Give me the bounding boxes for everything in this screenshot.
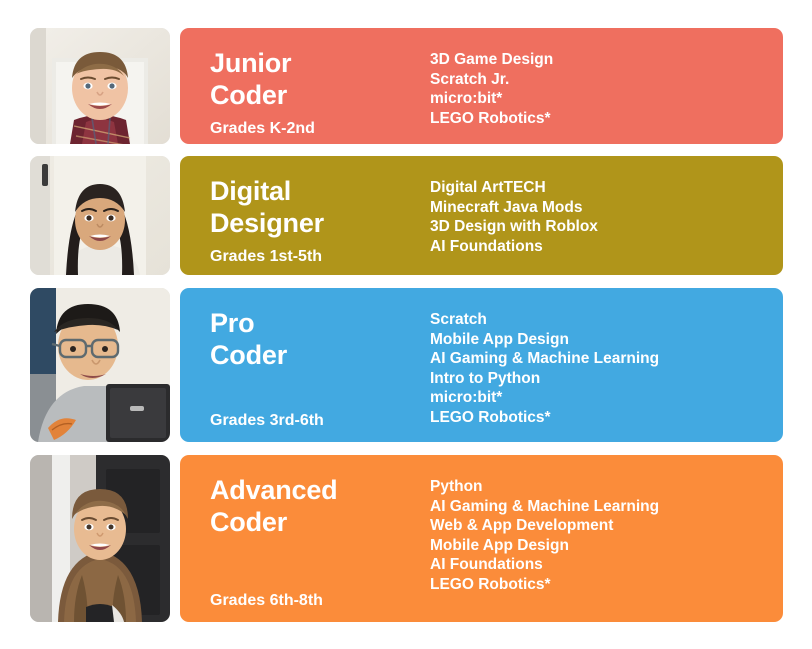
course-item: Scratch Jr. — [430, 70, 783, 90]
course-item: LEGO Robotics* — [430, 109, 783, 129]
student-photo — [30, 455, 170, 622]
course-item: Web & App Development — [430, 516, 783, 536]
student-photo-image — [30, 156, 170, 275]
program-row: Digital Designer Grades 1st-5th Digital … — [30, 156, 783, 275]
program-card[interactable]: Digital Designer Grades 1st-5th Digital … — [180, 156, 783, 275]
course-item: Scratch — [430, 310, 783, 330]
course-list: Python AI Gaming & Machine Learning Web … — [430, 465, 783, 612]
student-photo — [30, 156, 170, 275]
course-item: AI Gaming & Machine Learning — [430, 349, 783, 369]
program-title-line2: Designer — [210, 208, 324, 238]
program-title-line2: Coder — [210, 340, 287, 370]
program-levels-board: Junior Coder Grades K-2nd 3D Game Design… — [0, 0, 812, 649]
program-row: Pro Coder Grades 3rd-6th Scratch Mobile … — [30, 288, 783, 442]
program-title-line1: Digital — [210, 176, 291, 206]
course-item: micro:bit* — [430, 388, 783, 408]
program-card-heading: Pro Coder Grades 3rd-6th — [180, 298, 430, 432]
course-item: Digital ArtTECH — [430, 178, 783, 198]
program-card-heading: Digital Designer Grades 1st-5th — [180, 166, 430, 265]
course-item: LEGO Robotics* — [430, 408, 783, 428]
program-grades: Grades 1st-5th — [210, 240, 430, 266]
student-photo — [30, 288, 170, 442]
program-card-heading: Advanced Coder Grades 6th-8th — [180, 465, 430, 612]
course-item: micro:bit* — [430, 89, 783, 109]
program-title-line1: Junior — [210, 48, 291, 78]
program-title: Junior Coder — [210, 38, 430, 112]
program-title-line1: Advanced — [210, 475, 337, 505]
student-photo — [30, 28, 170, 144]
student-photo-image — [30, 28, 170, 144]
course-list: 3D Game Design Scratch Jr. micro:bit* LE… — [430, 38, 783, 134]
program-title: Pro Coder — [210, 298, 430, 372]
program-row: Junior Coder Grades K-2nd 3D Game Design… — [30, 28, 783, 144]
student-photo-image — [30, 455, 170, 622]
course-item: AI Foundations — [430, 555, 783, 575]
course-list: Scratch Mobile App Design AI Gaming & Ma… — [430, 298, 783, 432]
course-item: Mobile App Design — [430, 330, 783, 350]
program-card[interactable]: Pro Coder Grades 3rd-6th Scratch Mobile … — [180, 288, 783, 442]
course-list: Digital ArtTECH Minecraft Java Mods 3D D… — [430, 166, 783, 265]
program-card-heading: Junior Coder Grades K-2nd — [180, 38, 430, 134]
course-item: AI Foundations — [430, 237, 783, 257]
course-item: 3D Design with Roblox — [430, 217, 783, 237]
course-item: 3D Game Design — [430, 50, 783, 70]
program-title-line1: Pro — [210, 308, 254, 338]
program-row: Advanced Coder Grades 6th-8th Python AI … — [30, 455, 783, 622]
program-title-line2: Coder — [210, 80, 287, 110]
program-title-line2: Coder — [210, 507, 287, 537]
student-photo-image — [30, 288, 170, 442]
course-item: AI Gaming & Machine Learning — [430, 497, 783, 517]
program-card[interactable]: Junior Coder Grades K-2nd 3D Game Design… — [180, 28, 783, 144]
course-item: Minecraft Java Mods — [430, 198, 783, 218]
program-title: Advanced Coder — [210, 465, 430, 539]
program-grades: Grades 6th-8th — [210, 592, 430, 612]
course-item: Mobile App Design — [430, 536, 783, 556]
program-title: Digital Designer — [210, 166, 430, 240]
program-grades: Grades K-2nd — [210, 112, 430, 138]
program-card[interactable]: Advanced Coder Grades 6th-8th Python AI … — [180, 455, 783, 622]
course-item: Intro to Python — [430, 369, 783, 389]
program-grades: Grades 3rd-6th — [210, 412, 430, 432]
course-item: Python — [430, 477, 783, 497]
course-item: LEGO Robotics* — [430, 575, 783, 595]
